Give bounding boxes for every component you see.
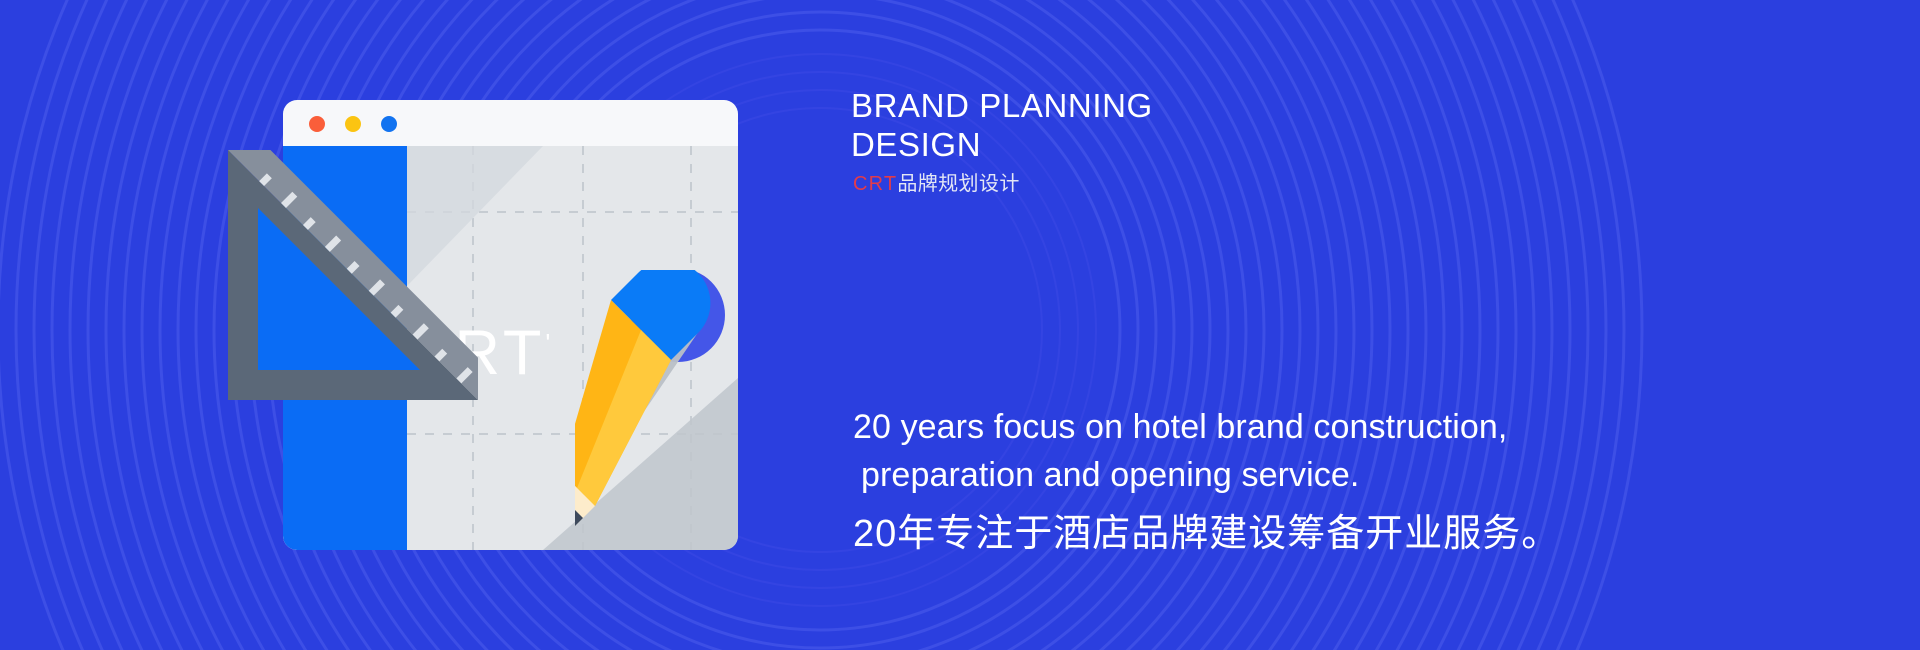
- eyebrow-subtitle-label: 品牌规划设计: [897, 173, 1019, 195]
- banner-text-block: BRAND PLANNING DESIGN CRT品牌规划设计 20 years…: [851, 0, 1911, 650]
- minimize-dot-icon: [345, 116, 361, 132]
- headline-chinese: 20年专注于酒店品牌建设筹备开业服务。: [853, 508, 1560, 560]
- hero-illustration: CRT': [0, 0, 860, 650]
- pencil-icon: [575, 270, 865, 560]
- browser-title-bar: [283, 100, 738, 146]
- triangle-ruler-icon: [228, 150, 478, 400]
- maximize-dot-icon: [381, 116, 397, 132]
- headline-english: 20 years focus on hotel brand constructi…: [853, 403, 1673, 499]
- close-dot-icon: [309, 116, 325, 132]
- eyebrow-subtitle: CRT品牌规划设计: [853, 172, 1020, 196]
- eyebrow-brand-label: CRT: [853, 173, 897, 195]
- eyebrow-title: BRAND PLANNING DESIGN: [851, 86, 1471, 164]
- headline-en-line1: 20 years focus on hotel brand constructi…: [853, 408, 1507, 446]
- headline-en-line2: preparation and opening service.: [853, 451, 1673, 499]
- promo-banner: CRT': [0, 0, 1920, 650]
